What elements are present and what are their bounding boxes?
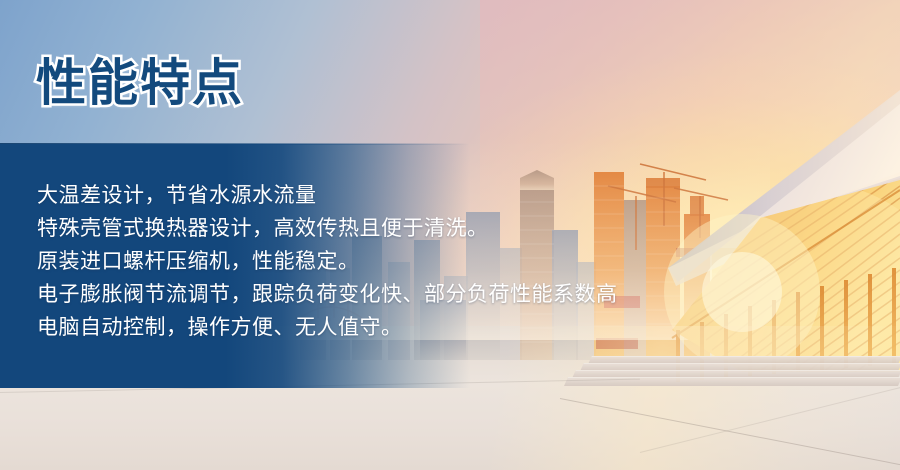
page-title: 性能特点 [36,56,244,111]
feature-item: 电子膨胀阀节流调节，跟踪负荷变化快、部分负荷性能系数高 [37,278,897,311]
performance-features-banner: 性能特点 大温差设计，节省水源水流量 特殊壳管式换热器设计，高效传热且便于清洗。… [0,0,900,470]
feature-item: 大温差设计，节省水源水流量 [37,179,897,212]
feature-item: 电脑自动控制，操作方便、无人值守。 [37,311,897,344]
feature-item: 特殊壳管式换热器设计，高效传热且便于清洗。 [37,212,897,245]
feature-list: 大温差设计，节省水源水流量 特殊壳管式换热器设计，高效传热且便于清洗。 原装进口… [37,179,897,344]
feature-item: 原装进口螺杆压缩机，性能稳定。 [37,245,897,278]
